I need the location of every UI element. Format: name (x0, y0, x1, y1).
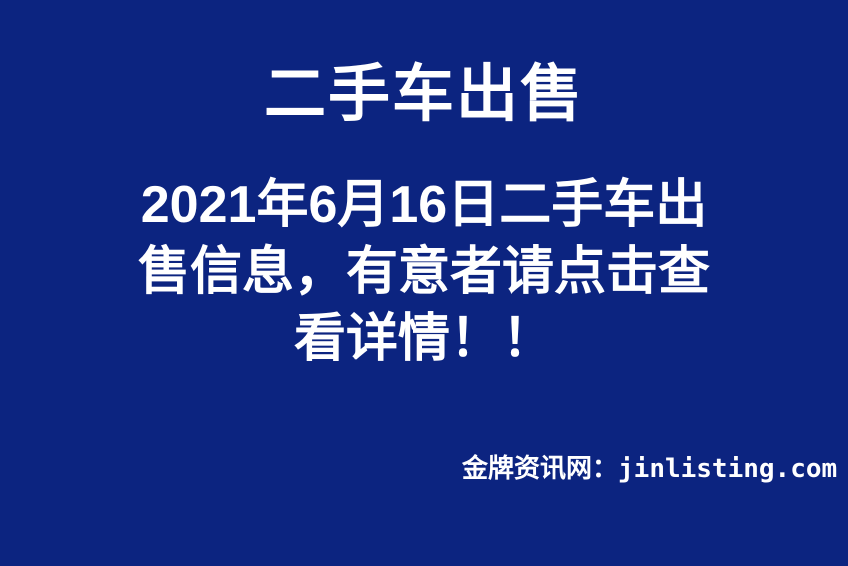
announcement-line: 2021年6月16日二手车出 (0, 172, 848, 239)
used-car-sale-poster: 二手车出售 2021年6月16日二手车出 售信息，有意者请点击查 看详情！！ 金… (0, 0, 848, 566)
announcement-line: 售信息，有意者请点击查 (0, 239, 848, 306)
announcement-line: 看详情！！ (0, 306, 848, 373)
footer-credit: 金牌资讯网：jinlisting.com (462, 452, 837, 485)
announcement-body: 2021年6月16日二手车出 售信息，有意者请点击查 看详情！！ (0, 172, 848, 373)
site-url-label: jinlisting.com (618, 454, 837, 484)
site-name-label: 金牌资讯网： (462, 453, 618, 483)
page-title: 二手车出售 (0, 56, 848, 134)
